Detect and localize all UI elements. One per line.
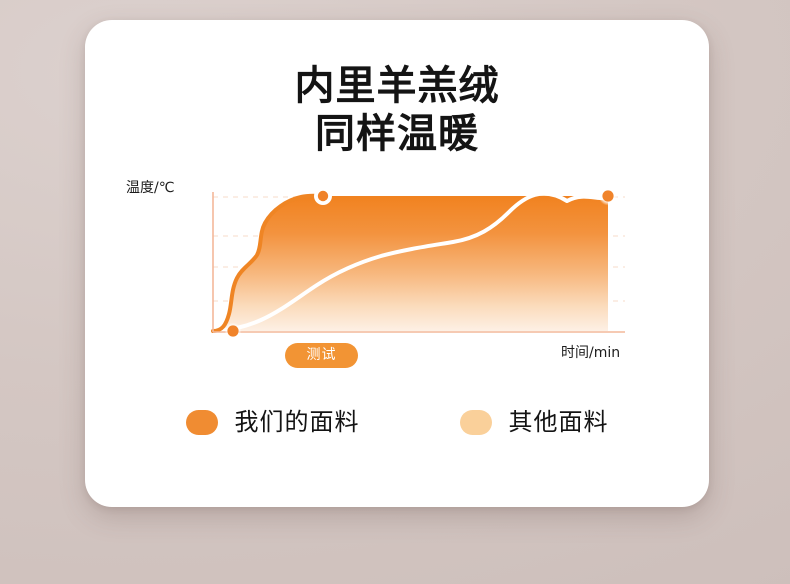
chart-marker-our-fabric-peak [314,187,332,205]
legend-swatch-other-fabric [460,410,492,435]
chart-marker-end [599,187,618,206]
chart-plot-area [85,20,709,420]
page-root: 内里羊羔绒 同样温暖 温度/℃ 时间/min [0,0,790,584]
legend-item-other-fabric: 其他面料 [460,408,609,436]
chart-legend: 我们的面料 其他面料 [85,408,709,436]
legend-swatch-our-fabric [186,410,218,435]
test-badge: 测试 [285,343,358,368]
legend-label-our-fabric: 我们的面料 [235,408,360,436]
content-card: 内里羊羔绒 同样温暖 温度/℃ 时间/min [85,20,709,507]
chart-marker-start [225,323,242,340]
legend-label-other-fabric: 其他面料 [509,408,609,436]
legend-item-our-fabric: 我们的面料 [186,408,360,436]
